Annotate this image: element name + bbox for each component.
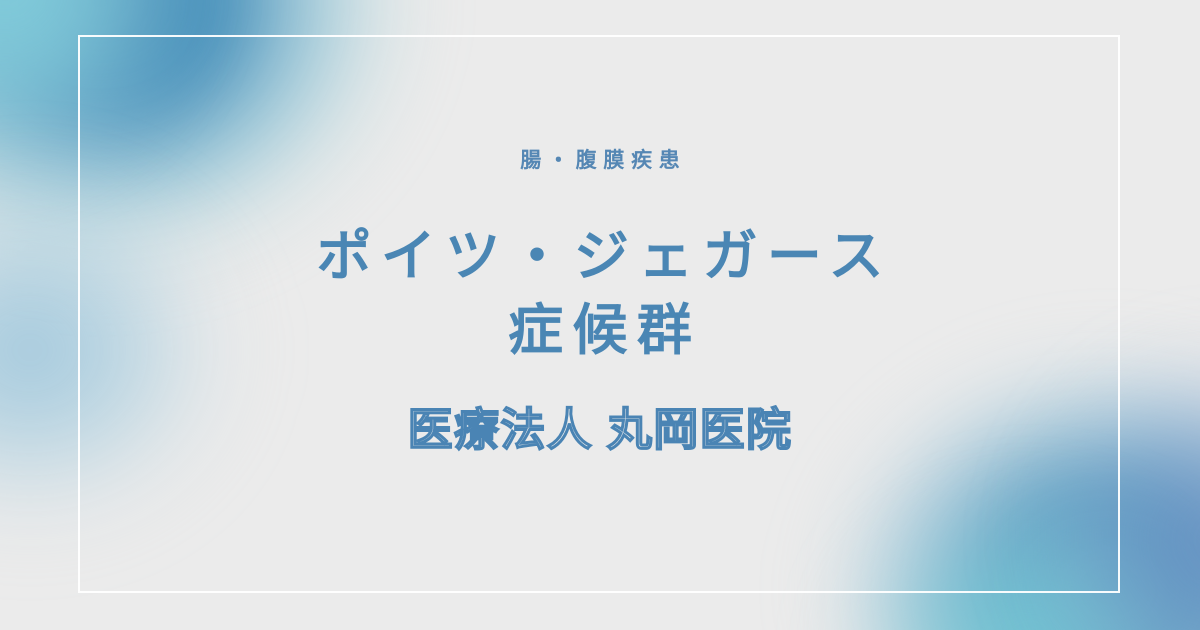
page-title: ポイツ・ジェガース 症候群	[307, 219, 893, 367]
organization-name: 医療法人 丸岡医院	[408, 405, 793, 455]
page-title-line-1: ポイツ・ジェガース	[307, 219, 893, 293]
og-card: 腸・腹膜疾患 ポイツ・ジェガース 症候群 医療法人 丸岡医院	[0, 0, 1200, 630]
page-title-line-2: 症候群	[307, 293, 893, 367]
category-label: 腸・腹膜疾患	[513, 150, 686, 171]
card-content: 腸・腹膜疾患 ポイツ・ジェガース 症候群 医療法人 丸岡医院	[0, 0, 1200, 630]
